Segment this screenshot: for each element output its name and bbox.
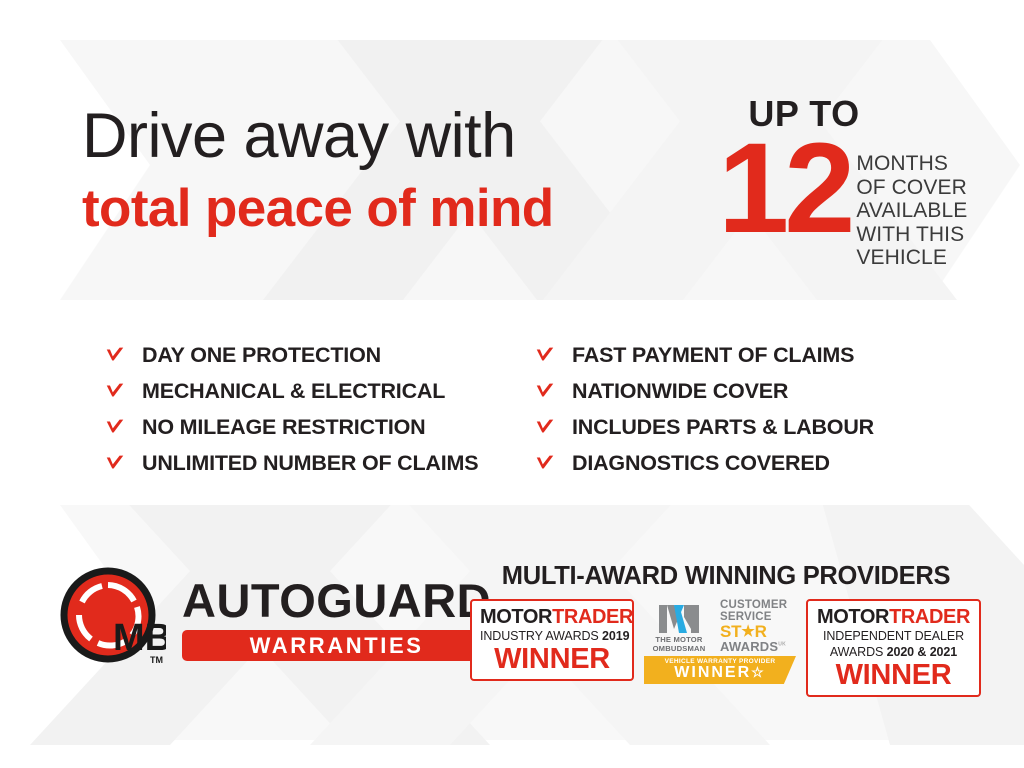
feature-label: FAST PAYMENT OF CLAIMS — [572, 343, 854, 368]
check-icon — [104, 344, 126, 366]
awards-sup: UK — [778, 642, 786, 648]
feature-item: UNLIMITED NUMBER OF CLAIMS — [104, 451, 534, 475]
badge-subtitle-thin: INDUSTRY AWARDS — [480, 629, 602, 643]
check-icon — [534, 416, 556, 438]
promo-banner: Drive away with total peace of mind UP T… — [0, 0, 1024, 768]
feature-label: DAY ONE PROTECTION — [142, 343, 381, 368]
badge-subtitle-year: 2019 — [602, 629, 629, 643]
ribbon-winner-label: WINNER☆ — [648, 665, 792, 681]
ombudsman-name-line-2: OMBUDSMAN — [644, 644, 714, 653]
feature-label: NO MILEAGE RESTRICTION — [142, 415, 425, 440]
awards-section: MULTI-AWARD WINNING PROVIDERS MOTORTRADE… — [470, 562, 982, 697]
feature-label: UNLIMITED NUMBER OF CLAIMS — [142, 451, 478, 476]
badge-winner-label: WINNER — [480, 645, 624, 674]
check-icon — [534, 452, 556, 474]
star-wordmark: ST★R — [720, 623, 787, 640]
badge-subtitle-years: 2020 & 2021 — [887, 645, 958, 659]
check-icon — [534, 380, 556, 402]
mbi-wordmark: MBi — [113, 617, 166, 659]
badge-subtitle-line-1: INDEPENDENT DEALER — [816, 629, 971, 644]
feature-label: INCLUDES PARTS & LABOUR — [572, 415, 874, 440]
badge-brand-dark: MOTOR — [480, 606, 552, 628]
autoguard-wordmark: AUTOGUARD — [182, 577, 491, 624]
star-icon: ★ — [741, 624, 754, 639]
feature-label: MECHANICAL & ELECTRICAL — [142, 379, 445, 404]
badge-brand: MOTORTRADER — [816, 607, 971, 628]
feature-item: INCLUDES PARTS & LABOUR — [534, 415, 874, 439]
cover-detail-line: WITH THIS — [856, 223, 967, 247]
trademark-symbol: TM — [150, 655, 163, 665]
badge-subtitle: INDUSTRY AWARDS 2019 — [480, 629, 624, 644]
warranties-bar: WARRANTIES — [182, 630, 491, 661]
check-icon — [104, 416, 126, 438]
cover-duration-badge: UP TO 12 MONTHS OF COVER AVAILABLE WITH … — [718, 96, 978, 270]
customer-label: CUSTOMER — [720, 600, 787, 612]
cover-detail-line: VEHICLE — [856, 246, 967, 270]
feature-item: NATIONWIDE COVER — [534, 379, 874, 403]
badge-brand: MOTORTRADER — [480, 607, 624, 628]
ribbon-star-icon: ☆ — [751, 664, 766, 680]
badge-subtitle-thin: INDEPENDENT DEALER — [823, 629, 964, 643]
feature-item: FAST PAYMENT OF CLAIMS — [534, 343, 874, 367]
motor-ombudsman-m-icon — [657, 601, 701, 633]
check-icon — [104, 452, 126, 474]
badge-subtitle-line-2: AWARDS 2020 & 2021 — [816, 645, 971, 660]
cover-detail-lines: MONTHS OF COVER AVAILABLE WITH THIS VEHI… — [856, 152, 967, 270]
cover-detail-line: MONTHS — [856, 152, 967, 176]
feature-item: NO MILEAGE RESTRICTION — [104, 415, 534, 439]
feature-label: DIAGNOSTICS COVERED — [572, 451, 830, 476]
badge-brand-red: TRADER — [889, 606, 970, 628]
feature-label: NATIONWIDE COVER — [572, 379, 788, 404]
check-icon — [104, 380, 126, 402]
cover-detail-line: OF COVER — [856, 176, 967, 200]
awards-title: MULTI-AWARD WINNING PROVIDERS — [470, 562, 982, 591]
award-badge-motor-trader-2019: MOTORTRADER INDUSTRY AWARDS 2019 WINNER — [470, 599, 634, 681]
cover-months-number: 12 — [718, 138, 850, 240]
headline-line-2: total peace of mind — [82, 182, 554, 235]
awards-label: AWARDSUK — [720, 640, 787, 653]
badge-brand-dark: MOTOR — [817, 606, 889, 628]
awards-badges: MOTORTRADER INDUSTRY AWARDS 2019 WINNER — [470, 599, 982, 697]
feature-column-right: FAST PAYMENT OF CLAIMS NATIONWIDE COVER … — [534, 343, 874, 475]
award-badge-motor-ombudsman: THE MOTOR OMBUDSMAN CUSTOMER SERVICE ST★… — [644, 599, 796, 684]
badge-subtitle-awards-word: AWARDS — [830, 645, 887, 659]
badge-brand-red: TRADER — [552, 606, 633, 628]
feature-item: DIAGNOSTICS COVERED — [534, 451, 874, 475]
badge-winner-label: WINNER — [816, 661, 971, 690]
awards-word: AWARDS — [720, 639, 778, 654]
headline-line-1: Drive away with — [82, 104, 554, 168]
feature-item: MECHANICAL & ELECTRICAL — [104, 379, 534, 403]
star-wordmark-post: R — [755, 623, 767, 640]
feature-item: DAY ONE PROTECTION — [104, 343, 534, 367]
cover-detail-line: AVAILABLE — [856, 199, 967, 223]
ribbon-winner-text: WINNER — [674, 664, 751, 681]
autoguard-logo: MBi TM AUTOGUARD WARRANTIES — [58, 565, 491, 673]
winner-ribbon: VEHICLE WARRANTY PROVIDER WINNER☆ — [644, 656, 796, 684]
check-icon — [534, 344, 556, 366]
headline: Drive away with total peace of mind — [82, 104, 554, 235]
award-badge-motor-trader-2020-2021: MOTORTRADER INDEPENDENT DEALER AWARDS 20… — [806, 599, 981, 697]
feature-list: DAY ONE PROTECTION MECHANICAL & ELECTRIC… — [104, 343, 874, 475]
warranties-label: WARRANTIES — [250, 633, 424, 659]
ombudsman-name-line-1: THE MOTOR — [644, 635, 714, 644]
feature-column-left: DAY ONE PROTECTION MECHANICAL & ELECTRIC… — [104, 343, 534, 475]
mbi-circle-logo-icon: MBi TM — [58, 565, 166, 673]
star-wordmark-pre: ST — [720, 623, 741, 640]
